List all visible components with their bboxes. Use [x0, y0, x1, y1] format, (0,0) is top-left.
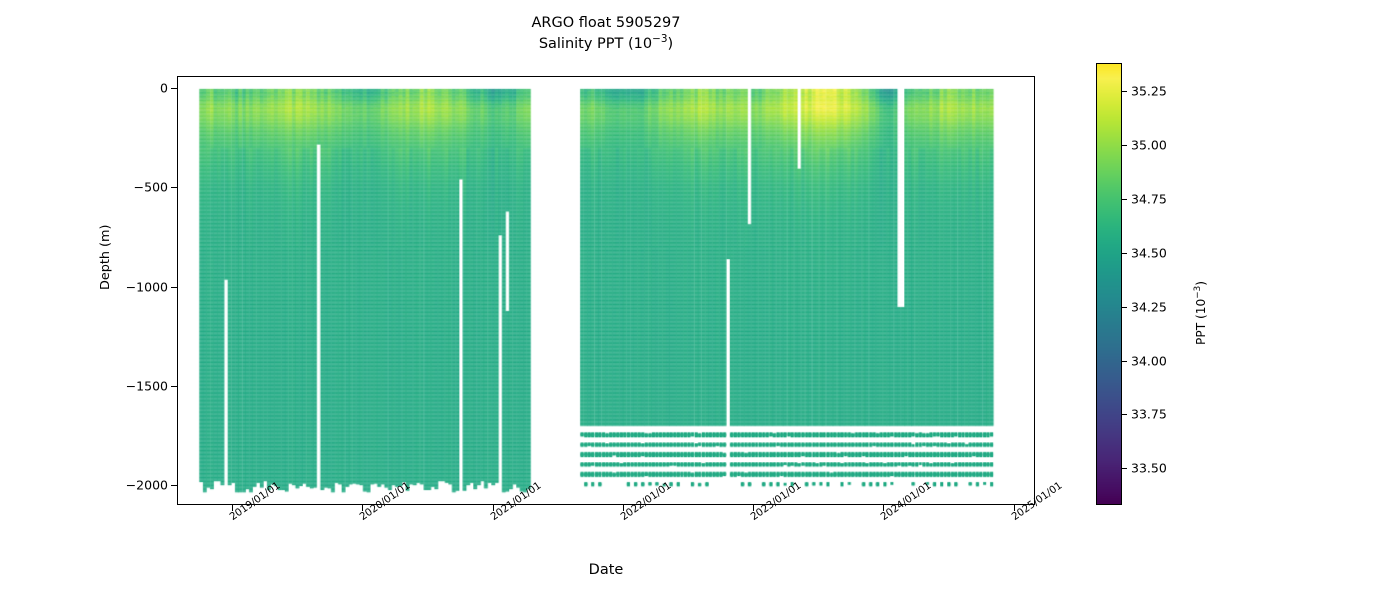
colorbar-tick-label: 33.50	[1131, 461, 1167, 476]
colorbar-tick-label: 35.25	[1131, 84, 1167, 99]
colorbar-label-exponent: −3	[1193, 286, 1203, 299]
colorbar-tick-label: 34.25	[1131, 299, 1167, 314]
colorbar-tick-mark	[1122, 253, 1127, 254]
subtitle-suffix: )	[668, 36, 674, 52]
y-tick-label: −1500	[126, 378, 168, 393]
colorbar-tick-mark	[1122, 307, 1127, 308]
colorbar-tick-mark	[1122, 414, 1127, 415]
figure-subtitle: Salinity PPT (10−3)	[177, 33, 1035, 54]
x-axis-label: Date	[177, 562, 1035, 578]
colorbar-label-prefix: PPT (10	[1194, 299, 1208, 345]
figure-canvas: ARGO float 5905297 Salinity PPT (10−3) D…	[0, 0, 1400, 600]
figure-title: ARGO float 5905297	[177, 14, 1035, 33]
colorbar-label: PPT (10−3)	[1193, 281, 1208, 345]
y-tick-mark	[171, 386, 177, 387]
colorbar-tick-mark	[1122, 91, 1127, 92]
y-tick-mark	[171, 88, 177, 89]
y-tick-label: −2000	[126, 478, 168, 493]
subtitle-exponent: −3	[652, 33, 667, 45]
salinity-heatmap	[178, 77, 1034, 504]
colorbar-tick-label: 35.00	[1131, 137, 1167, 152]
y-tick-mark	[171, 485, 177, 486]
colorbar-tick-mark	[1122, 468, 1127, 469]
colorbar-tick-label: 33.75	[1131, 407, 1167, 422]
colorbar-tick-mark	[1122, 145, 1127, 146]
colorbar-tick-label: 34.50	[1131, 245, 1167, 260]
y-tick-mark	[171, 287, 177, 288]
y-tick-mark	[171, 187, 177, 188]
plot-axes[interactable]	[177, 76, 1035, 505]
y-tick-label: 0	[160, 80, 168, 95]
y-tick-label: −500	[134, 180, 168, 195]
subtitle-prefix: Salinity PPT (10	[539, 36, 652, 52]
colorbar-tick-label: 34.75	[1131, 191, 1167, 206]
y-tick-label: −1000	[126, 279, 168, 294]
colorbar-gradient	[1097, 64, 1121, 504]
colorbar-label-suffix: )	[1194, 281, 1208, 286]
colorbar-tick-mark	[1122, 361, 1127, 362]
y-axis-label: Depth (m)	[98, 225, 113, 291]
colorbar-tick-mark	[1122, 199, 1127, 200]
figure-title-block: ARGO float 5905297 Salinity PPT (10−3)	[177, 14, 1035, 54]
colorbar[interactable]	[1096, 63, 1122, 505]
colorbar-tick-label: 34.00	[1131, 353, 1167, 368]
